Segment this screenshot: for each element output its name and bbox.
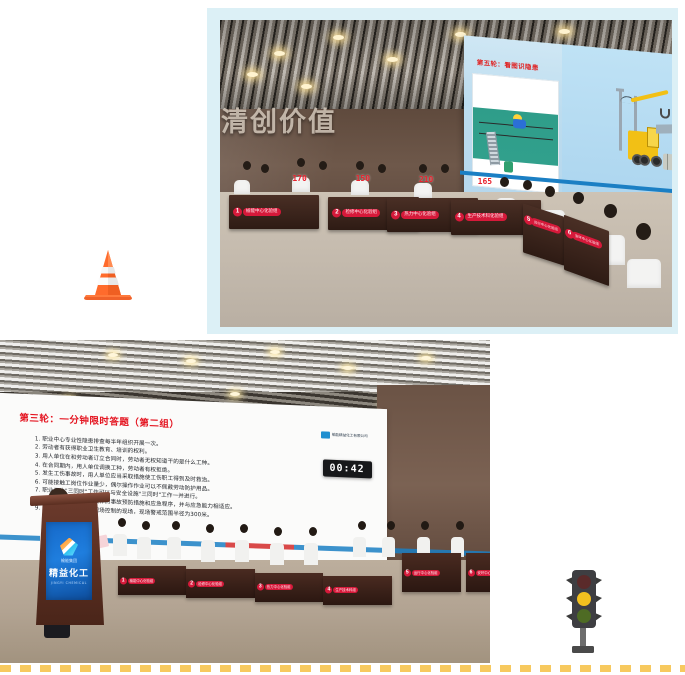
- team-name-plate: 榆能中心化验组: [243, 208, 281, 216]
- illustration-pole-crossbar: [616, 88, 624, 92]
- team-number-badge: 3: [257, 584, 264, 591]
- team-name-plate: 检修中心化验组: [196, 581, 224, 587]
- team-desk[interactable]: 3 热力中心化验组: [255, 573, 324, 602]
- team-desk[interactable]: 1 榆能中心化验组: [229, 195, 319, 229]
- contestant: [167, 537, 181, 559]
- team-number-badge: 3: [391, 210, 400, 219]
- team-desk[interactable]: 1 榆能中心化验组: [118, 566, 187, 595]
- contestant-head: [118, 518, 126, 527]
- contestant-head: [456, 521, 464, 530]
- contestant: [235, 540, 249, 562]
- illustration-paint-can: [504, 161, 513, 173]
- team-name-plate: 热力中心化验组: [265, 584, 293, 590]
- ceiling-light-icon: [230, 392, 240, 396]
- dashed-rule: [0, 665, 685, 672]
- contestant-head: [500, 177, 509, 187]
- team-desk[interactable]: 5 运行中心化验组: [402, 553, 461, 592]
- team-name-plate: 榆能中心化验组: [128, 578, 156, 584]
- podium-sign-english: JINGYI CHEMICAL: [51, 581, 87, 585]
- team-score: 165: [478, 177, 492, 186]
- logo-mark-icon: [321, 432, 330, 439]
- ceiling-light-icon: [387, 57, 398, 62]
- contestant: [353, 537, 366, 557]
- contestant-head: [356, 161, 364, 170]
- projection-round-title: 第五轮：看图识隐患: [477, 56, 539, 72]
- team-number-badge: 1: [233, 207, 242, 216]
- contestant-head: [387, 521, 395, 530]
- contestant: [382, 537, 395, 557]
- podium-sign: 榆能集团 精益化工 JINGYI CHEMICAL: [46, 522, 92, 600]
- ceiling-light-icon: [274, 51, 285, 56]
- team-number-badge: 4: [455, 213, 464, 222]
- team-score: 210: [419, 175, 433, 184]
- team-desk[interactable]: 6 安环中心化验组: [466, 553, 491, 592]
- team-number-badge: 1: [120, 577, 127, 584]
- wall-slogan-text: 清创价值: [221, 100, 337, 139]
- contestant-head: [358, 521, 366, 530]
- contestant: [627, 259, 661, 288]
- contestant-head: [142, 521, 150, 530]
- ceiling-light-icon: [108, 353, 118, 357]
- contestant-head: [206, 524, 214, 533]
- contestant-head: [309, 527, 317, 536]
- contestant: [414, 183, 432, 198]
- contestant: [137, 537, 151, 559]
- contestant: [270, 543, 284, 565]
- team-name-plate: 运行中心化验组: [412, 570, 440, 576]
- traffic-cone-icon: [74, 246, 142, 302]
- team-number-badge: 2: [332, 209, 341, 218]
- contestant-head: [636, 223, 651, 240]
- team-name-plate: 生产技术科组: [333, 587, 357, 593]
- contestant-head: [573, 192, 584, 204]
- top-photo-frame: 清创价值 第五轮：看图识隐患: [207, 8, 678, 334]
- illustration-wheel: [639, 154, 650, 166]
- brand-logo-icon: [60, 538, 78, 556]
- team-score: 170: [292, 174, 306, 183]
- team-number-badge: 2: [188, 580, 195, 587]
- vertical-traffic-light-icon: [553, 560, 615, 656]
- slide-title: 第三轮：一分钟限时答题（第二组）: [19, 410, 179, 431]
- contestant: [201, 540, 215, 562]
- podium-sign-company: 精益化工: [49, 566, 89, 579]
- contestant: [304, 543, 318, 565]
- team-number-badge: 4: [325, 587, 332, 594]
- team-desk[interactable]: 2 检修中心化验组: [186, 569, 255, 598]
- team-name-plate: 检修中心化验组: [342, 209, 380, 217]
- illustration-worker: [513, 119, 526, 129]
- contestant: [113, 534, 127, 556]
- company-logo: 榆能精益化工有限公司: [321, 432, 368, 441]
- podium-sign-group: 榆能集团: [61, 558, 77, 564]
- team-number-badge: 5: [404, 569, 411, 576]
- team-name-plate: 运行中心化验组: [531, 217, 561, 235]
- team-score: 150: [356, 174, 370, 183]
- team-name-plate: 安环中心化验组: [572, 230, 602, 249]
- contestant-head: [261, 164, 269, 173]
- contestant-head: [297, 158, 305, 167]
- illustration-suspended-load: [656, 124, 672, 133]
- illustration-wheel: [651, 155, 662, 167]
- contestant-head: [523, 180, 532, 190]
- team-name-plate: 热力中心化验组: [401, 211, 439, 219]
- illustration-crane-hook: [660, 108, 670, 119]
- contestant-head: [243, 161, 251, 170]
- ceiling-light-icon: [270, 350, 280, 354]
- team-name-plate: 安环中心化验组: [476, 570, 491, 576]
- contestant: [234, 180, 250, 194]
- page-canvas: 清创价值 第五轮：看图识隐患: [0, 0, 685, 675]
- illustration-storage-tanks: [663, 153, 672, 170]
- logo-text: 榆能精益化工有限公司: [332, 433, 368, 440]
- top-photo: 清创价值 第五轮：看图识隐患: [220, 20, 672, 327]
- team-number-badge: 6: [468, 569, 475, 576]
- team-name-plate: 生产技术科化验组: [465, 213, 507, 221]
- bottom-photo: 第三轮：一分钟限时答题（第二组） 榆能精益化工有限公司 00:42 1. 职业中…: [0, 340, 490, 663]
- contestant-head: [172, 521, 180, 530]
- ceiling-light-icon: [343, 366, 353, 370]
- team-desk[interactable]: 4 生产技术科组: [323, 576, 392, 605]
